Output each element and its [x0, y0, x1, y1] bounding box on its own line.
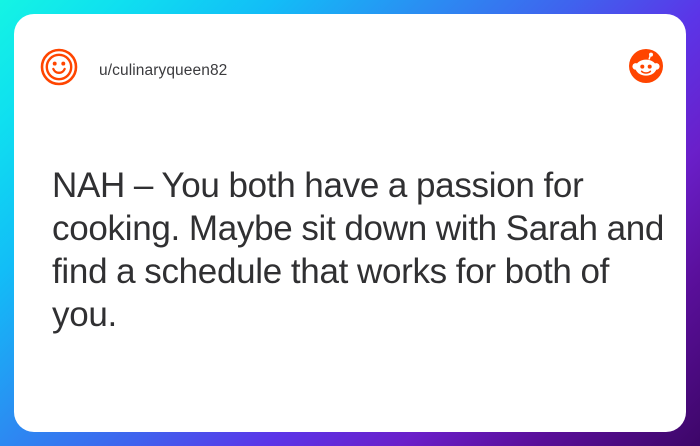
comment-text: NAH – You both have a passion for cookin… — [52, 164, 682, 336]
reddit-snoo-logo-icon[interactable] — [628, 48, 664, 84]
card-header: u/culinaryqueen82 — [14, 14, 686, 110]
reddit-comment-card: u/culinaryqueen82 NAH – You both have — [14, 14, 686, 432]
smiley-face-avatar-icon[interactable] — [40, 48, 78, 86]
username-label[interactable]: u/culinaryqueen82 — [99, 60, 227, 81]
